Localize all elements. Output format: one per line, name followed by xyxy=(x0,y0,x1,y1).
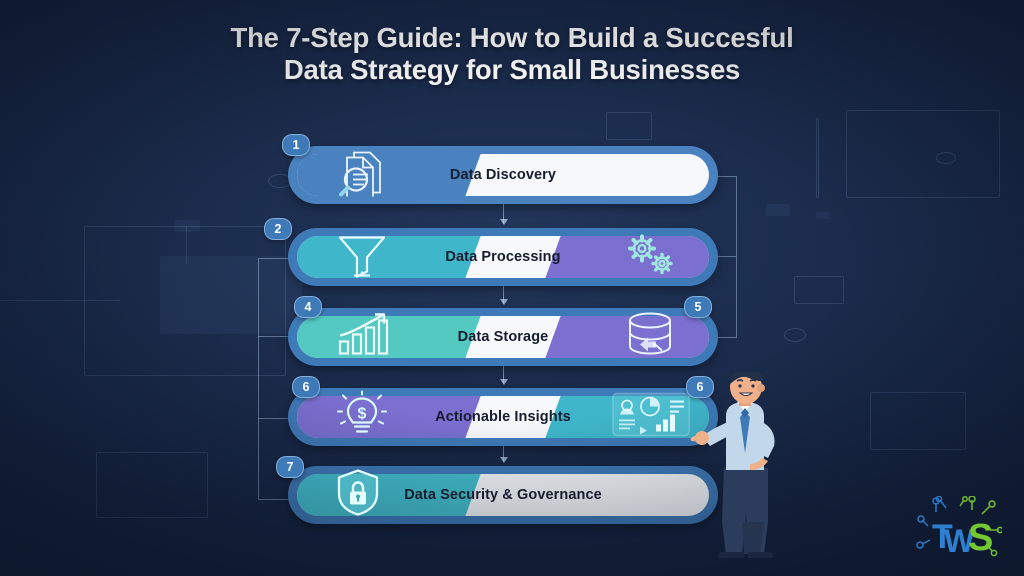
businessman-presenter-illustration xyxy=(690,372,800,562)
step-row-5-label: Data Security & Governance xyxy=(288,466,718,524)
step-row-2[interactable]: Data Processing 2 xyxy=(288,228,718,286)
step-badge-5: 5 xyxy=(684,296,712,318)
step-row-3[interactable]: Data Storage 4 5 xyxy=(288,308,718,366)
step-row-1[interactable]: Data Discovery 1 xyxy=(288,146,718,204)
step-row-4-label: Actionable Insights xyxy=(288,388,718,446)
step-row-3-label: Data Storage xyxy=(288,308,718,366)
step-row-2-label: Data Processing xyxy=(288,228,718,286)
step-badge-1: 1 xyxy=(282,134,310,156)
infographic-canvas: The 7-Step Guide: How to Build a Succesf… xyxy=(0,0,1024,576)
logo-letter-s: S xyxy=(968,517,993,559)
tws-circuit-logo: T W S xyxy=(916,496,1002,564)
step-badge-7: 7 xyxy=(276,456,304,478)
step-badge-6-left: 6 xyxy=(292,376,320,398)
step-row-5[interactable]: Data Security & Governance 7 xyxy=(288,466,718,524)
step-row-1-label: Data Discovery xyxy=(288,146,718,204)
step-badge-2: 2 xyxy=(264,218,292,240)
step-row-4[interactable]: $ xyxy=(288,388,718,446)
step-badge-4: 4 xyxy=(294,296,322,318)
